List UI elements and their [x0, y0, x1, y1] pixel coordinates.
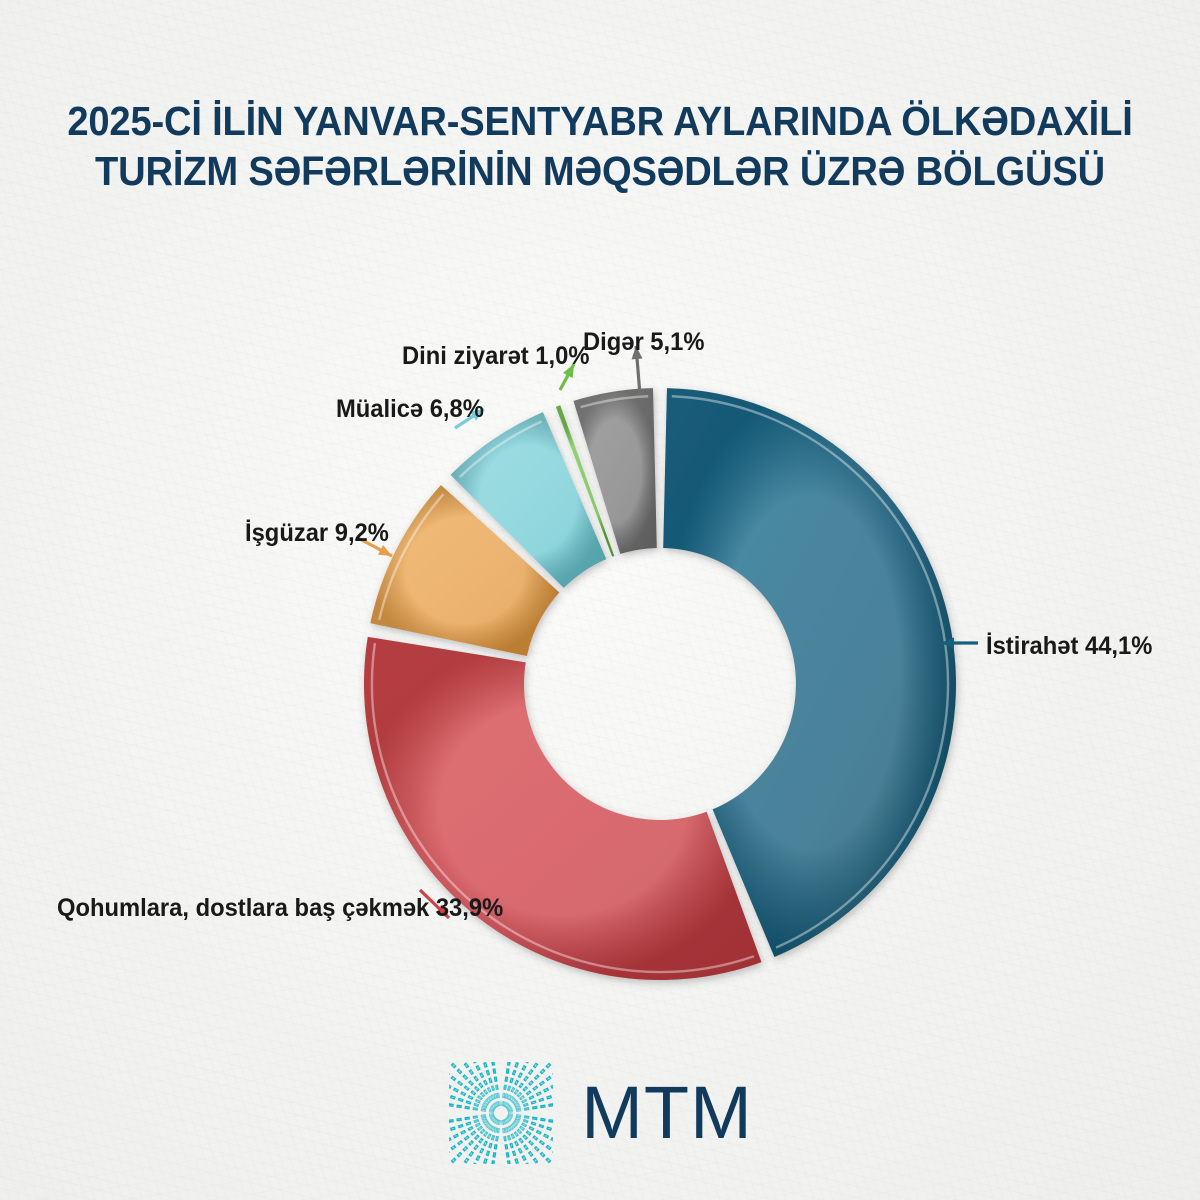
infographic-page: 2025-Cİ İLİN YANVAR-SENTYABR AYLARINDA Ö…	[0, 0, 1200, 1200]
donut-slices	[364, 388, 956, 980]
slice-label-diger: Digər 5,1%	[583, 327, 704, 357]
slice-shading	[364, 637, 761, 980]
slice-label-dini-ziyaret: Dini ziyarət 1,0%	[402, 341, 589, 371]
page-title: 2025-Cİ İLİN YANVAR-SENTYABR AYLARINDA Ö…	[42, 96, 1158, 196]
slice-label-qohumlara: Qohumlara, dostlara baş çəkmək 33,9%	[57, 893, 503, 923]
radial-burst-icon	[447, 1060, 555, 1166]
slice-label-mualice: Müalicə 6,8%	[336, 394, 484, 424]
brand-name: MTM	[581, 1076, 753, 1150]
slice-label-isguzar: İşgüzar 9,2%	[245, 518, 389, 548]
slice-label-istirahet: İstirahət 44,1%	[986, 631, 1152, 661]
brand-logo: MTM	[0, 1060, 1200, 1166]
